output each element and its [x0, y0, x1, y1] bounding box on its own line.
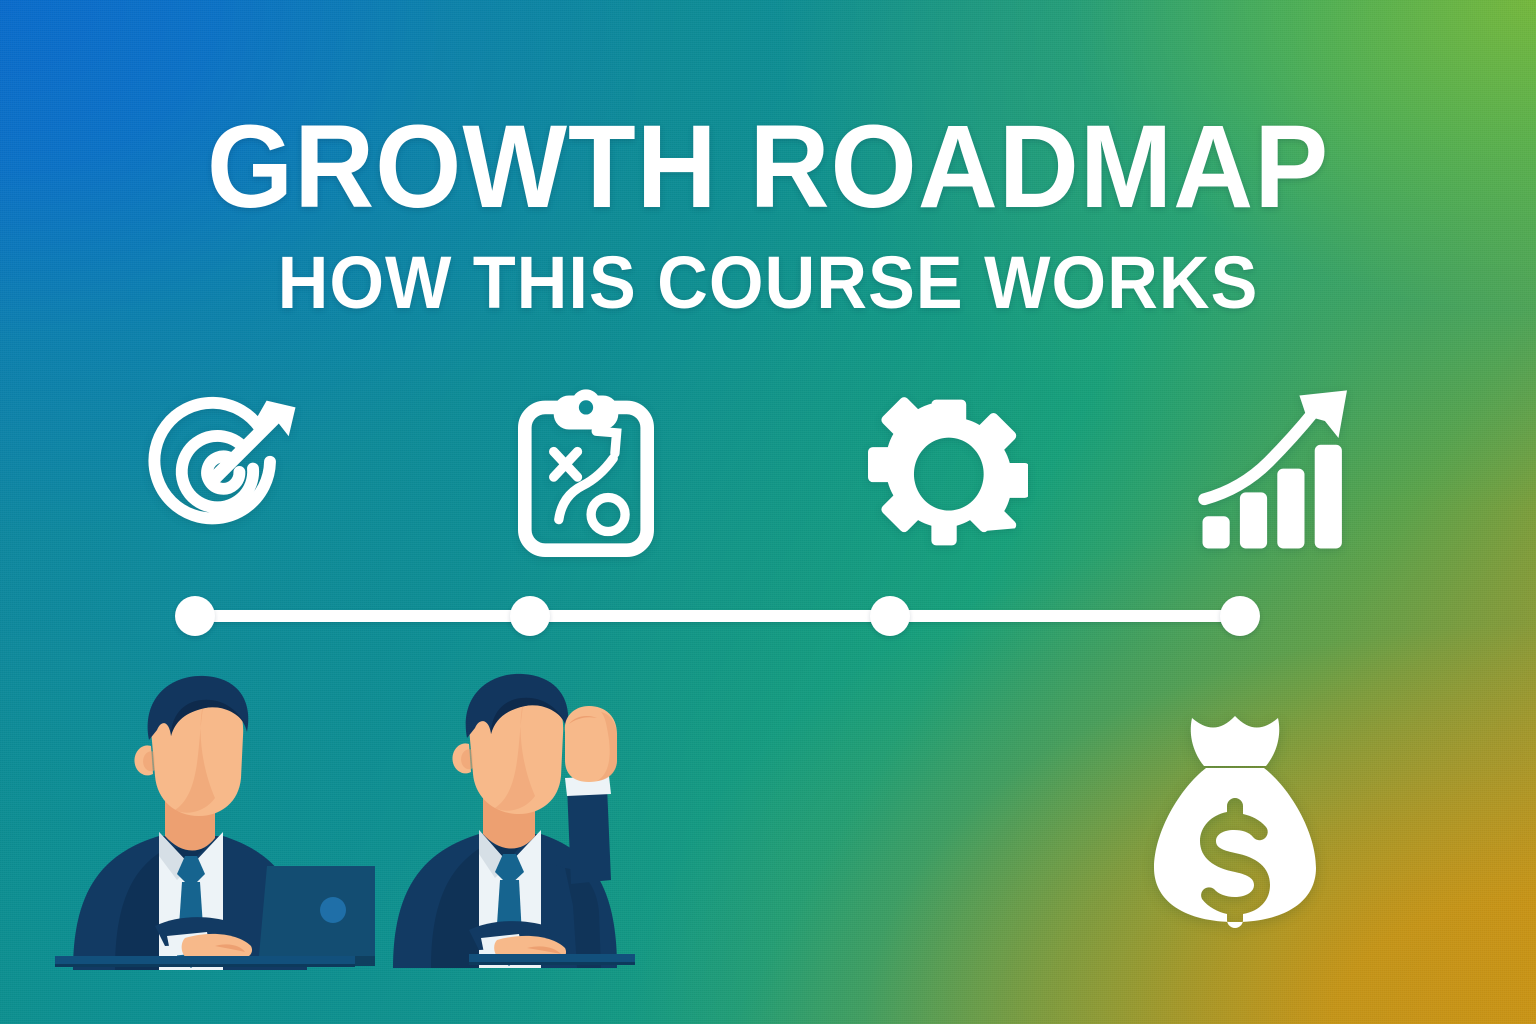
timeline-track — [191, 610, 1244, 622]
clipboard-strategy-icon — [493, 382, 678, 562]
target-icon — [126, 382, 311, 562]
timeline-node-3[interactable] — [870, 596, 910, 636]
growth-chart-icon — [1186, 382, 1371, 562]
timeline-node-1[interactable] — [175, 596, 215, 636]
timeline-node-4[interactable] — [1220, 596, 1260, 636]
page-subtitle: HOW THIS COURSE WORKS — [38, 246, 1497, 320]
timeline-node-2[interactable] — [510, 596, 550, 636]
roadmap-timeline — [175, 596, 1260, 636]
page-title: GROWTH ROADMAP — [46, 108, 1490, 226]
gear-icon — [853, 382, 1038, 562]
illustration-scene — [0, 650, 1536, 980]
money-bag-icon — [1150, 710, 1320, 935]
slide-canvas: GROWTH ROADMAP HOW THIS COURSE WORKS — [0, 0, 1536, 1024]
businessman-celebrating — [385, 668, 645, 973]
heading-block: GROWTH ROADMAP HOW THIS COURSE WORKS — [0, 108, 1536, 320]
businessman-with-laptop — [55, 670, 375, 975]
icon-row — [118, 382, 1338, 562]
